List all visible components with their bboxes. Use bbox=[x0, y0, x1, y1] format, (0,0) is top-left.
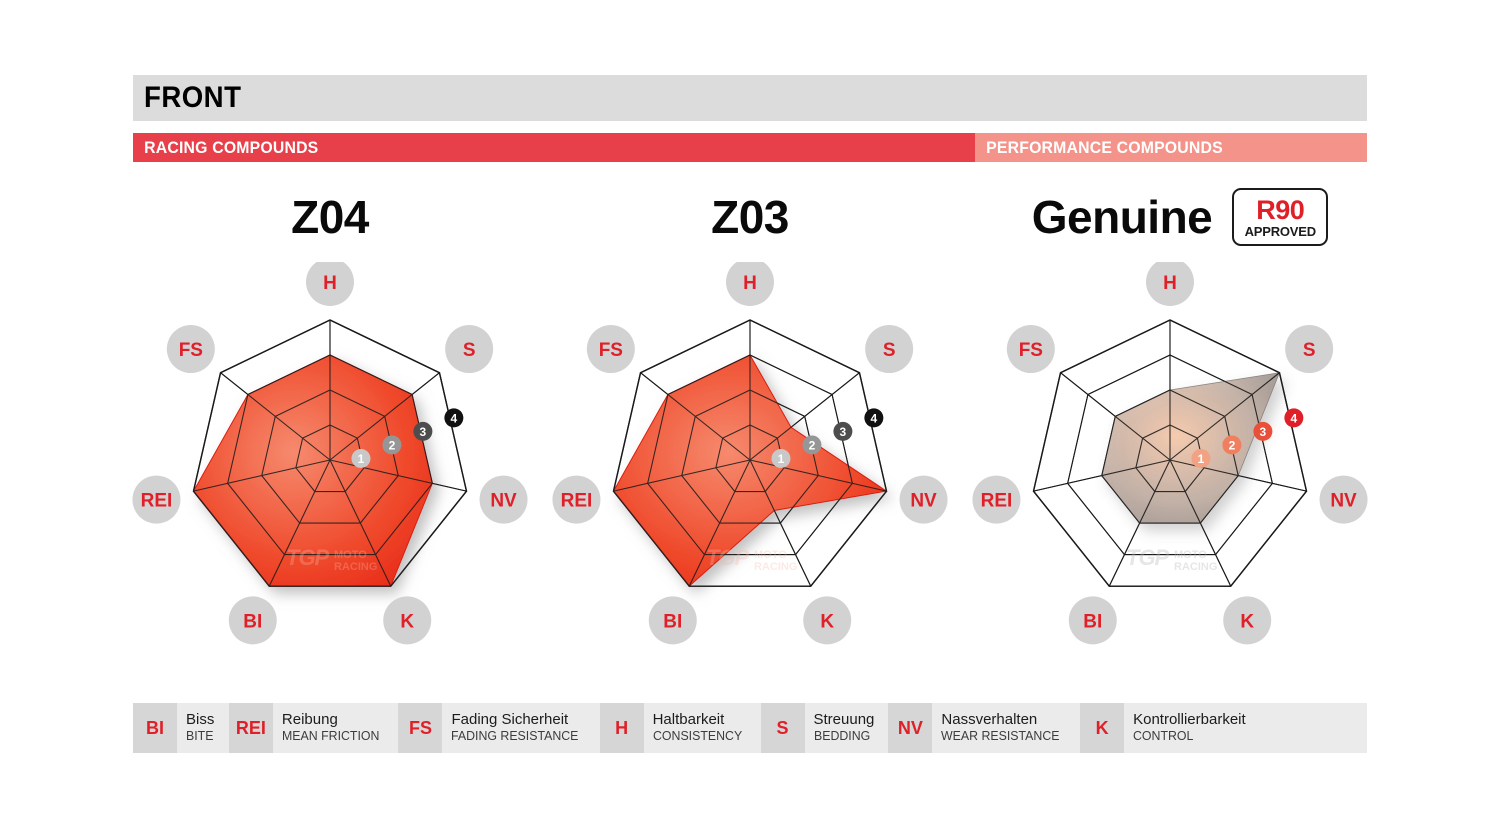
legend-label-en: CONTROL bbox=[1133, 729, 1240, 744]
scale-marker-1: 1 bbox=[351, 449, 370, 468]
svg-text:2: 2 bbox=[389, 438, 396, 452]
band-racing-label: RACING COMPOUNDS bbox=[133, 138, 318, 158]
scale-marker-2: 2 bbox=[802, 435, 821, 454]
r90-badge-bottom-label: APPROVED bbox=[1245, 225, 1316, 238]
svg-text:NV: NV bbox=[910, 491, 937, 512]
axis-label-k: K bbox=[383, 596, 431, 644]
scale-marker-1: 1 bbox=[771, 449, 790, 468]
band-performance-compounds: PERFORMANCE COMPOUNDS bbox=[975, 133, 1367, 162]
legend-text-group: BissBITE bbox=[177, 703, 229, 753]
legend-text-group: ReibungMEAN FRICTION bbox=[273, 703, 399, 753]
svg-text:MOTO: MOTO bbox=[754, 549, 787, 561]
legend-text-group: StreuungBEDDING bbox=[805, 703, 889, 753]
svg-text:NV: NV bbox=[1330, 491, 1357, 512]
category-band-row: RACING COMPOUNDS PERFORMANCE COMPOUNDS bbox=[133, 133, 1367, 162]
axis-label-bi: BI bbox=[649, 596, 697, 644]
compound-title-z04: Z04 bbox=[150, 190, 510, 244]
axis-label-h: H bbox=[306, 262, 354, 306]
legend-label-en: FADING RESISTANCE bbox=[451, 729, 578, 744]
axis-label-k: K bbox=[1223, 596, 1271, 644]
svg-text:FS: FS bbox=[1019, 340, 1043, 361]
axis-label-k: K bbox=[803, 596, 851, 644]
svg-text:2: 2 bbox=[1229, 438, 1236, 452]
svg-text:4: 4 bbox=[451, 411, 458, 425]
svg-text:REI: REI bbox=[981, 491, 1013, 512]
legend-code-chip: FS bbox=[398, 703, 442, 753]
axis-label-fs: FS bbox=[1007, 325, 1055, 373]
axis-label-fs: FS bbox=[587, 325, 635, 373]
legend-label-en: BITE bbox=[186, 729, 213, 744]
svg-text:RACING: RACING bbox=[1174, 561, 1217, 573]
legend-item: SStreuungBEDDING bbox=[761, 703, 889, 753]
axis-label-nv: NV bbox=[900, 476, 948, 524]
legend-text-group: Fading SicherheitFADING RESISTANCE bbox=[442, 703, 599, 753]
svg-text:3: 3 bbox=[420, 425, 427, 439]
legend-item: KKontrollierbarkeitCONTROL bbox=[1080, 703, 1260, 753]
scale-marker-3: 3 bbox=[1253, 422, 1272, 441]
svg-text:REI: REI bbox=[141, 491, 173, 512]
legend-code-chip: K bbox=[1080, 703, 1124, 753]
legend-text-group: KontrollierbarkeitCONTROL bbox=[1124, 703, 1260, 753]
svg-text:1: 1 bbox=[778, 452, 785, 466]
legend-text-group: NassverhaltenWEAR RESISTANCE bbox=[932, 703, 1080, 753]
legend-code-chip: BI bbox=[133, 703, 177, 753]
svg-text:3: 3 bbox=[1260, 425, 1267, 439]
legend-label-de: Fading Sicherheit bbox=[451, 712, 585, 729]
legend-label-de: Biss bbox=[186, 712, 215, 729]
svg-text:BI: BI bbox=[1083, 611, 1102, 632]
svg-text:MOTO: MOTO bbox=[1174, 549, 1207, 561]
svg-text:4: 4 bbox=[871, 411, 878, 425]
legend-label-en: BEDDING bbox=[814, 729, 872, 744]
compound-name-z04: Z04 bbox=[291, 190, 369, 244]
svg-text:FS: FS bbox=[599, 340, 623, 361]
legend-item: NVNassverhaltenWEAR RESISTANCE bbox=[888, 703, 1080, 753]
r90-badge-top-label: R90 bbox=[1256, 197, 1304, 224]
legend-code-chip: S bbox=[761, 703, 805, 753]
legend-code-chip: H bbox=[600, 703, 644, 753]
scale-marker-2: 2 bbox=[382, 435, 401, 454]
legend-label-en: WEAR RESISTANCE bbox=[941, 729, 1059, 744]
svg-text:K: K bbox=[820, 611, 834, 632]
axis-label-rei: REI bbox=[972, 476, 1020, 524]
svg-text:K: K bbox=[1240, 611, 1254, 632]
legend-text-group: HaltbarkeitCONSISTENCY bbox=[644, 703, 761, 753]
svg-text:BI: BI bbox=[663, 611, 682, 632]
svg-text:TGP: TGP bbox=[286, 545, 330, 570]
svg-text:NV: NV bbox=[490, 491, 517, 512]
axis-label-bi: BI bbox=[1069, 596, 1117, 644]
axis-label-s: S bbox=[865, 325, 913, 373]
svg-text:REI: REI bbox=[561, 491, 593, 512]
band-racing-compounds: RACING COMPOUNDS bbox=[133, 133, 975, 162]
legend-bar: BIBissBITEREIReibungMEAN FRICTIONFSFadin… bbox=[133, 703, 1367, 753]
svg-text:RACING: RACING bbox=[754, 561, 797, 573]
compound-title-genuine: Genuine R90 APPROVED bbox=[990, 190, 1370, 244]
svg-text:TGP: TGP bbox=[706, 545, 750, 570]
scale-marker-4: 4 bbox=[1284, 408, 1303, 427]
svg-text:H: H bbox=[743, 273, 757, 294]
legend-code-chip: NV bbox=[888, 703, 932, 753]
legend-item: HHaltbarkeitCONSISTENCY bbox=[600, 703, 761, 753]
svg-text:2: 2 bbox=[809, 438, 816, 452]
scale-marker-3: 3 bbox=[833, 422, 852, 441]
legend-item: BIBissBITE bbox=[133, 703, 229, 753]
axis-label-h: H bbox=[1146, 262, 1194, 306]
legend-item: FSFading SicherheitFADING RESISTANCE bbox=[398, 703, 599, 753]
svg-text:H: H bbox=[1163, 273, 1177, 294]
svg-text:K: K bbox=[400, 611, 414, 632]
axis-label-s: S bbox=[445, 325, 493, 373]
legend-label-de: Kontrollierbarkeit bbox=[1133, 712, 1246, 729]
legend-label-de: Nassverhalten bbox=[941, 712, 1066, 729]
page-root: FRONT RACING COMPOUNDS PERFORMANCE COMPO… bbox=[0, 0, 1500, 820]
band-performance-label: PERFORMANCE COMPOUNDS bbox=[975, 138, 1223, 158]
scale-marker-4: 4 bbox=[864, 408, 883, 427]
legend-label-en: CONSISTENCY bbox=[653, 729, 742, 744]
legend-code-chip: REI bbox=[229, 703, 273, 753]
axis-label-rei: REI bbox=[132, 476, 180, 524]
compound-name-genuine: Genuine bbox=[1032, 190, 1213, 244]
svg-text:BI: BI bbox=[243, 611, 262, 632]
axis-label-h: H bbox=[726, 262, 774, 306]
axis-label-rei: REI bbox=[552, 476, 600, 524]
legend-label-de: Reibung bbox=[282, 712, 385, 729]
axis-label-s: S bbox=[1285, 325, 1333, 373]
svg-text:4: 4 bbox=[1291, 411, 1298, 425]
compound-title-z03: Z03 bbox=[570, 190, 930, 244]
scale-marker-4: 4 bbox=[444, 408, 463, 427]
header-title-bar: FRONT bbox=[133, 75, 1367, 121]
scale-marker-3: 3 bbox=[413, 422, 432, 441]
radar-chart-genuine: TGPMOTORACING1234HSNVKBIREIFS bbox=[970, 262, 1370, 662]
legend-item: REIReibungMEAN FRICTION bbox=[229, 703, 399, 753]
legend-label-en: MEAN FRICTION bbox=[282, 729, 379, 744]
compound-name-z03: Z03 bbox=[711, 190, 789, 244]
axis-label-fs: FS bbox=[167, 325, 215, 373]
legend-label-de: Streuung bbox=[814, 712, 875, 729]
legend-label-de: Haltbarkeit bbox=[653, 712, 747, 729]
svg-text:TGP: TGP bbox=[1126, 545, 1170, 570]
radar-chart-z03: TGPMOTORACING1234HSNVKBIREIFS bbox=[550, 262, 950, 662]
scale-marker-1: 1 bbox=[1191, 449, 1210, 468]
axis-label-nv: NV bbox=[480, 476, 528, 524]
axis-label-bi: BI bbox=[229, 596, 277, 644]
svg-text:3: 3 bbox=[840, 425, 847, 439]
svg-text:S: S bbox=[883, 340, 896, 361]
r90-approved-badge: R90 APPROVED bbox=[1232, 188, 1328, 246]
svg-text:FS: FS bbox=[179, 340, 203, 361]
svg-text:MOTO: MOTO bbox=[334, 549, 367, 561]
svg-text:1: 1 bbox=[1198, 452, 1205, 466]
scale-marker-2: 2 bbox=[1222, 435, 1241, 454]
svg-text:S: S bbox=[463, 340, 476, 361]
svg-text:H: H bbox=[323, 273, 337, 294]
axis-label-nv: NV bbox=[1320, 476, 1368, 524]
svg-text:S: S bbox=[1303, 340, 1316, 361]
radar-chart-z04: TGPMOTORACING1234HSNVKBIREIFS bbox=[130, 262, 530, 662]
svg-text:RACING: RACING bbox=[334, 561, 377, 573]
page-title: FRONT bbox=[133, 81, 241, 115]
svg-text:1: 1 bbox=[358, 452, 365, 466]
